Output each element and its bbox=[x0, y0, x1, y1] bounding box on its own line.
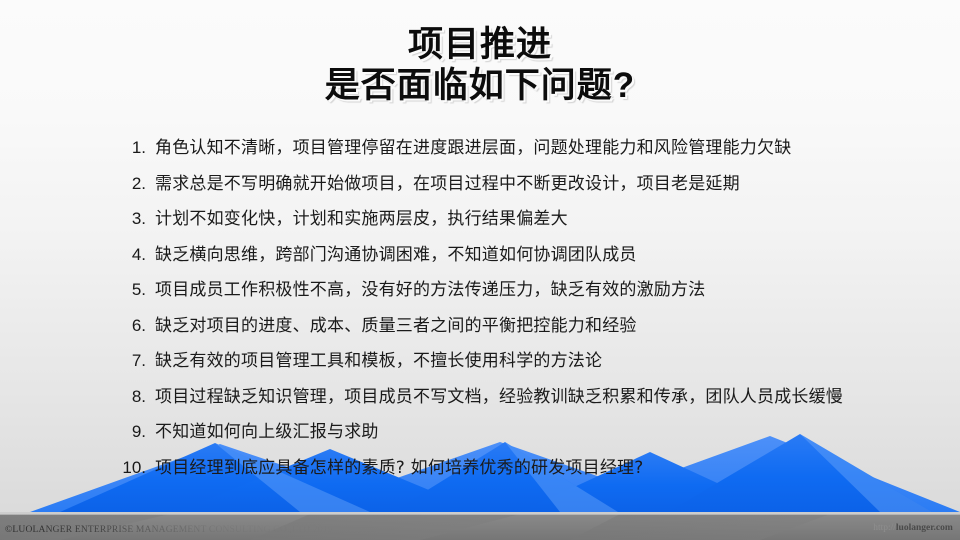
list-item: 9. 不知道如何向上级汇报与求助 bbox=[104, 417, 904, 453]
list-item: 8. 项目过程缺乏知识管理，项目成员不写文档，经验教训缺乏积累和传承，团队人员成… bbox=[104, 382, 904, 418]
watermark-url: http://luolanger.com bbox=[870, 523, 956, 534]
list-item-number: 2. bbox=[104, 174, 155, 194]
title-line-primary: 项目推进 bbox=[0, 24, 960, 65]
list-item: 1. 角色认知不清晰，项目管理停留在进度跟进层面，问题处理能力和风险管理能力欠缺 bbox=[104, 133, 904, 169]
list-item-label: 项目经理到底应具备怎样的素质? 如何培养优秀的研发项目经理? bbox=[155, 453, 643, 478]
list-item: 5. 项目成员工作积极性不高，没有好的方法传递压力，缺乏有效的激励方法 bbox=[104, 275, 904, 311]
list-item-number: 7. bbox=[104, 351, 155, 371]
list-item: 7. 缺乏有效的项目管理工具和模板，不擅长使用科学的方法论 bbox=[104, 346, 904, 382]
list-item-label: 不知道如何向上级汇报与求助 bbox=[155, 417, 379, 442]
title-line-secondary: 是否面临如下问题? bbox=[0, 65, 960, 106]
slide-canvas: 项目推进 是否面临如下问题? 1. 角色认知不清晰，项目管理停留在进度跟进层面，… bbox=[0, 0, 960, 540]
list-item-label: 缺乏对项目的进度、成本、质量三者之间的平衡把控能力和经验 bbox=[155, 311, 637, 336]
list-item-label: 项目成员工作积极性不高，没有好的方法传递压力，缺乏有效的激励方法 bbox=[155, 275, 705, 300]
list-item-number: 1. bbox=[104, 138, 155, 158]
list-item-label: 需求总是不写明确就开始做项目，在项目过程中不断更改设计，项目老是延期 bbox=[155, 169, 740, 194]
list-item-number: 8. bbox=[104, 387, 155, 407]
issue-list: 1. 角色认知不清晰，项目管理停留在进度跟进层面，问题处理能力和风险管理能力欠缺… bbox=[104, 133, 904, 488]
list-item: 2. 需求总是不写明确就开始做项目，在项目过程中不断更改设计，项目老是延期 bbox=[104, 169, 904, 205]
list-item-number: 4. bbox=[104, 245, 155, 265]
list-item-label: 计划不如变化快，计划和实施两层皮，执行结果偏差大 bbox=[155, 204, 568, 229]
list-item: 3. 计划不如变化快，计划和实施两层皮，执行结果偏差大 bbox=[104, 204, 904, 240]
list-item-number: 6. bbox=[104, 316, 155, 336]
page-title: 项目推进 是否面临如下问题? bbox=[0, 24, 960, 107]
list-item-number: 3. bbox=[104, 209, 155, 229]
list-item-label: 缺乏横向思维，跨部门沟通协调困难，不知道如何协调团队成员 bbox=[155, 240, 637, 265]
list-item-number: 5. bbox=[104, 280, 155, 300]
list-item: 10. 项目经理到底应具备怎样的素质? 如何培养优秀的研发项目经理? bbox=[104, 453, 904, 489]
list-item-label: 角色认知不清晰，项目管理停留在进度跟进层面，问题处理能力和风险管理能力欠缺 bbox=[155, 133, 791, 158]
list-item: 6. 缺乏对项目的进度、成本、质量三者之间的平衡把控能力和经验 bbox=[104, 311, 904, 347]
list-item-label: 缺乏有效的项目管理工具和模板，不擅长使用科学的方法论 bbox=[155, 346, 602, 371]
watermark-host: luolanger.com bbox=[896, 523, 953, 533]
list-item-number: 10. bbox=[104, 458, 155, 478]
list-item: 4. 缺乏横向思维，跨部门沟通协调困难，不知道如何协调团队成员 bbox=[104, 240, 904, 276]
list-item-number: 9. bbox=[104, 422, 155, 442]
watermark-protocol: http:// bbox=[873, 523, 896, 533]
list-item-label: 项目过程缺乏知识管理，项目成员不写文档，经验教训缺乏积累和传承，团队人员成长缓慢 bbox=[155, 382, 843, 407]
footer-copyright: ©LUOLANGER ENTERPRISE MANAGEMENT CONSULT… bbox=[5, 525, 333, 535]
